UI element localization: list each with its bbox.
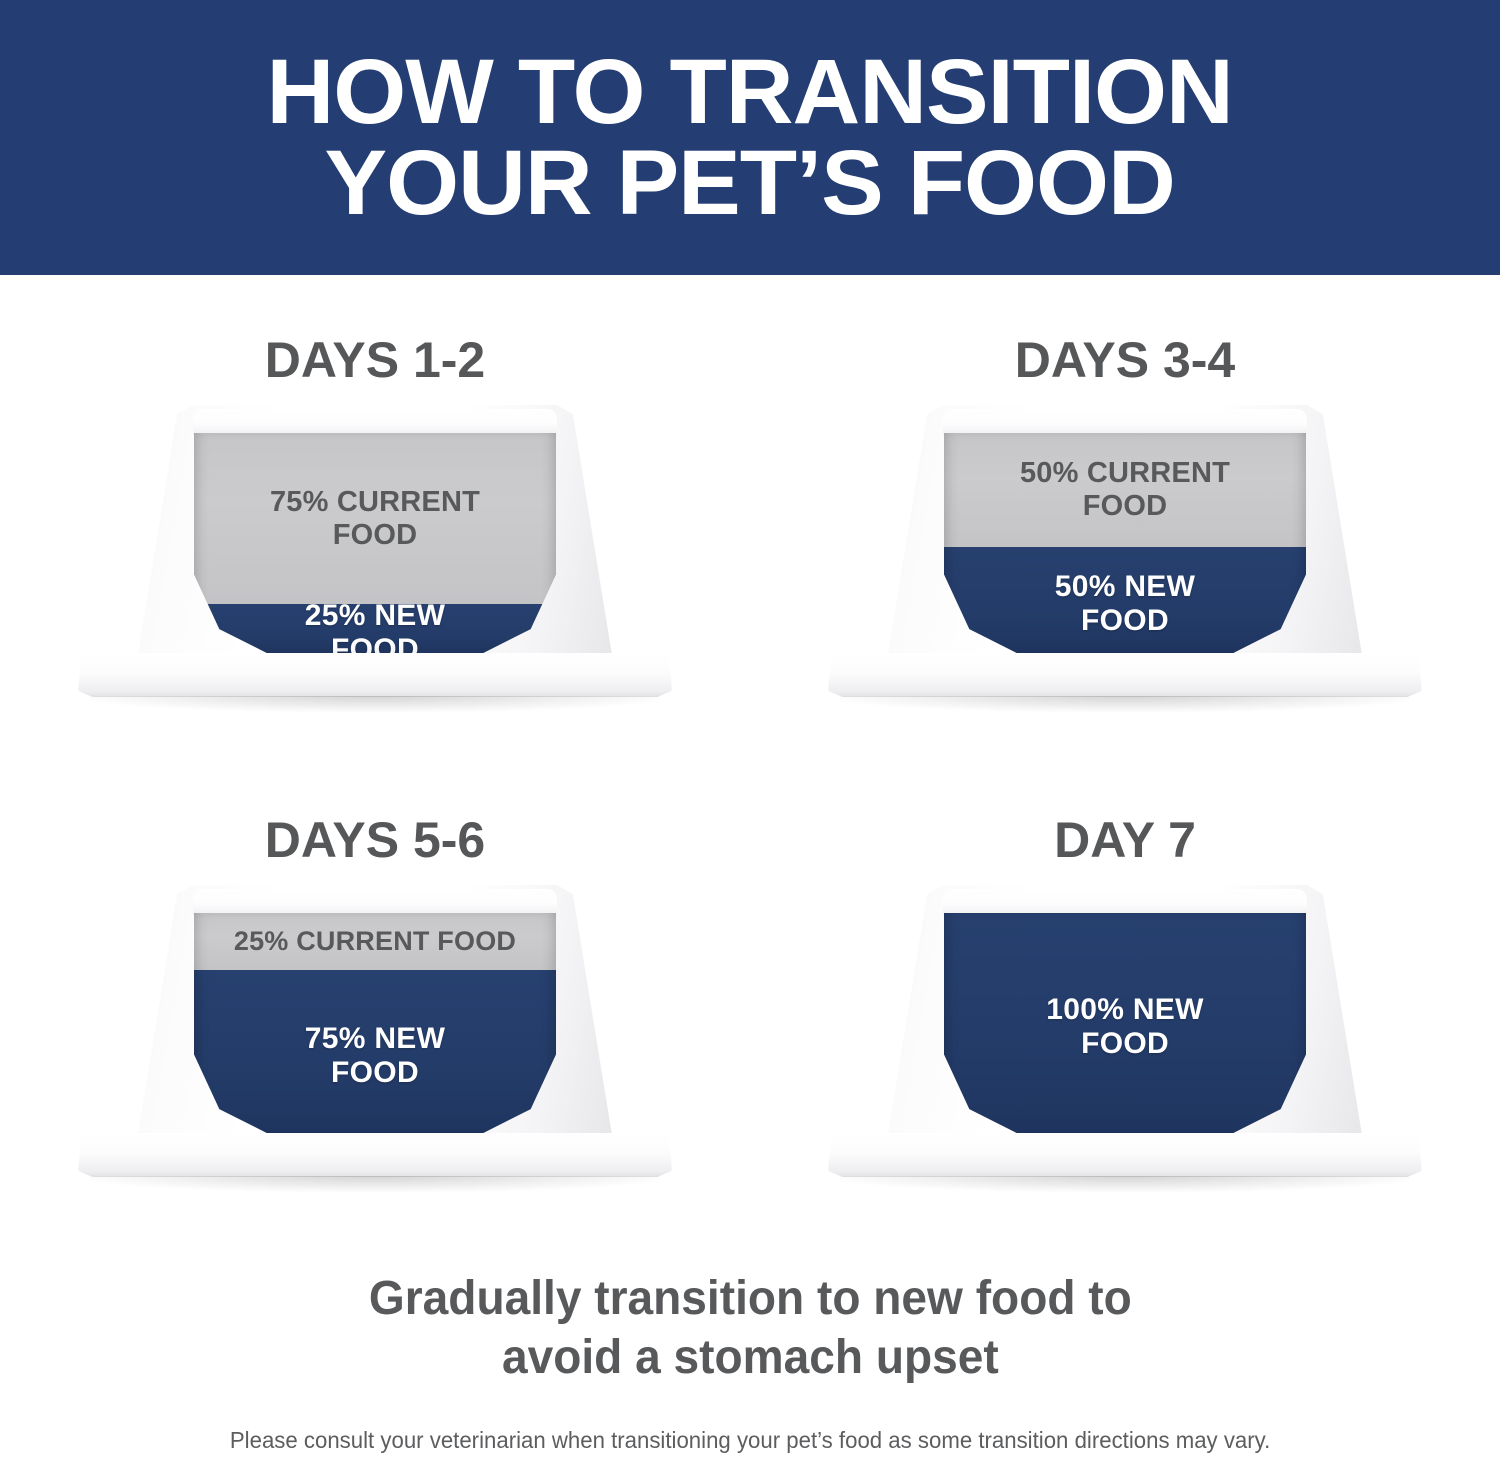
footer: Gradually transition to new food to avoi… <box>0 1270 1500 1454</box>
bowl-drop-shadow <box>90 1176 660 1192</box>
current-food-label-line-1: 25% CURRENT FOOD <box>234 926 516 956</box>
current-food-label: 25% CURRENT FOOD <box>226 926 524 957</box>
step-title-days-3-4: DAYS 3-4 <box>1015 335 1235 385</box>
bowl-cavity: 75% CURRENT FOOD 25% NEW FOOD <box>194 433 556 661</box>
new-food-label-line-2: FOOD <box>1081 604 1169 637</box>
transition-steps-grid: DAYS 1-2 75% CURRENT FOOD 25% NEW FOOD <box>0 275 1500 1270</box>
current-food-portion: 50% CURRENT FOOD <box>944 433 1306 547</box>
new-food-label: 50% NEW FOOD <box>1047 570 1203 638</box>
bowl-cavity: 25% CURRENT FOOD 75% NEW FOOD <box>194 913 556 1141</box>
step-title-day-7: DAY 7 <box>1054 815 1196 865</box>
new-food-label-line-1: 75% NEW <box>305 1022 445 1055</box>
bowl-drop-shadow <box>90 696 660 712</box>
new-food-label: 25% NEW FOOD <box>297 599 453 661</box>
page-title: HOW TO TRANSITION YOUR PET’S FOOD <box>267 47 1233 227</box>
infographic-page: HOW TO TRANSITION YOUR PET’S FOOD DAYS 1… <box>0 0 1500 1462</box>
page-title-line-1: HOW TO TRANSITION <box>267 41 1233 143</box>
step-title-days-5-6: DAYS 5-6 <box>265 815 485 865</box>
step-title-days-1-2: DAYS 1-2 <box>265 335 485 385</box>
footer-headline-line-1: Gradually transition to new food to <box>369 1272 1132 1325</box>
bowl-rim-icon <box>193 409 557 435</box>
food-bowl-day-7: 100% NEW FOOD <box>820 885 1430 1200</box>
current-food-label-line-1: 75% CURRENT <box>270 486 480 518</box>
step-card-day-7: DAY 7 100% NEW FOOD <box>750 755 1500 1235</box>
new-food-portion: 100% NEW FOOD <box>944 913 1306 1141</box>
footer-headline: Gradually transition to new food to avoi… <box>369 1270 1132 1387</box>
header-band: HOW TO TRANSITION YOUR PET’S FOOD <box>0 0 1500 275</box>
bowl-cavity: 100% NEW FOOD <box>944 913 1306 1141</box>
current-food-label: 75% CURRENT FOOD <box>262 486 488 552</box>
current-food-label-line-2: FOOD <box>1083 490 1168 522</box>
food-bowl-days-5-6: 25% CURRENT FOOD 75% NEW FOOD <box>70 885 680 1200</box>
bowl-cavity: 50% CURRENT FOOD 50% NEW FOOD <box>944 433 1306 661</box>
new-food-label: 100% NEW FOOD <box>1038 993 1211 1061</box>
bowl-drop-shadow <box>840 696 1410 712</box>
footer-headline-line-2: avoid a stomach upset <box>369 1329 1132 1388</box>
bowl-base-icon <box>78 653 672 697</box>
new-food-label-line-2: FOOD <box>331 1056 419 1089</box>
step-card-days-1-2: DAYS 1-2 75% CURRENT FOOD 25% NEW FOOD <box>0 275 750 755</box>
bowl-rim-icon <box>943 409 1307 435</box>
food-bowl-days-1-2: 75% CURRENT FOOD 25% NEW FOOD <box>70 405 680 720</box>
step-card-days-5-6: DAYS 5-6 25% CURRENT FOOD 75% NEW FOOD <box>0 755 750 1235</box>
food-bowl-days-3-4: 50% CURRENT FOOD 50% NEW FOOD <box>820 405 1430 720</box>
page-title-line-2: YOUR PET’S FOOD <box>267 138 1233 228</box>
new-food-label-line-2: FOOD <box>1081 1027 1169 1060</box>
bowl-base-icon <box>828 1133 1422 1177</box>
bowl-rim-icon <box>193 889 557 915</box>
disclaimer-text: Please consult your veterinarian when tr… <box>230 1427 1270 1454</box>
current-food-label: 50% CURRENT FOOD <box>1012 457 1238 523</box>
new-food-label-line-1: 50% NEW <box>1055 570 1195 603</box>
bowl-base-icon <box>828 653 1422 697</box>
current-food-label-line-2: FOOD <box>333 519 418 551</box>
current-food-portion: 25% CURRENT FOOD <box>194 913 556 970</box>
current-food-label-line-1: 50% CURRENT <box>1020 457 1230 489</box>
new-food-portion: 75% NEW FOOD <box>194 970 556 1141</box>
step-card-days-3-4: DAYS 3-4 50% CURRENT FOOD 50% NEW FOOD <box>750 275 1500 755</box>
bowl-drop-shadow <box>840 1176 1410 1192</box>
new-food-label: 75% NEW FOOD <box>297 1022 453 1090</box>
current-food-portion: 75% CURRENT FOOD <box>194 433 556 604</box>
new-food-label-line-1: 25% NEW <box>305 599 445 632</box>
new-food-label-line-1: 100% NEW <box>1046 993 1203 1026</box>
bowl-rim-icon <box>943 889 1307 915</box>
bowl-base-icon <box>78 1133 672 1177</box>
